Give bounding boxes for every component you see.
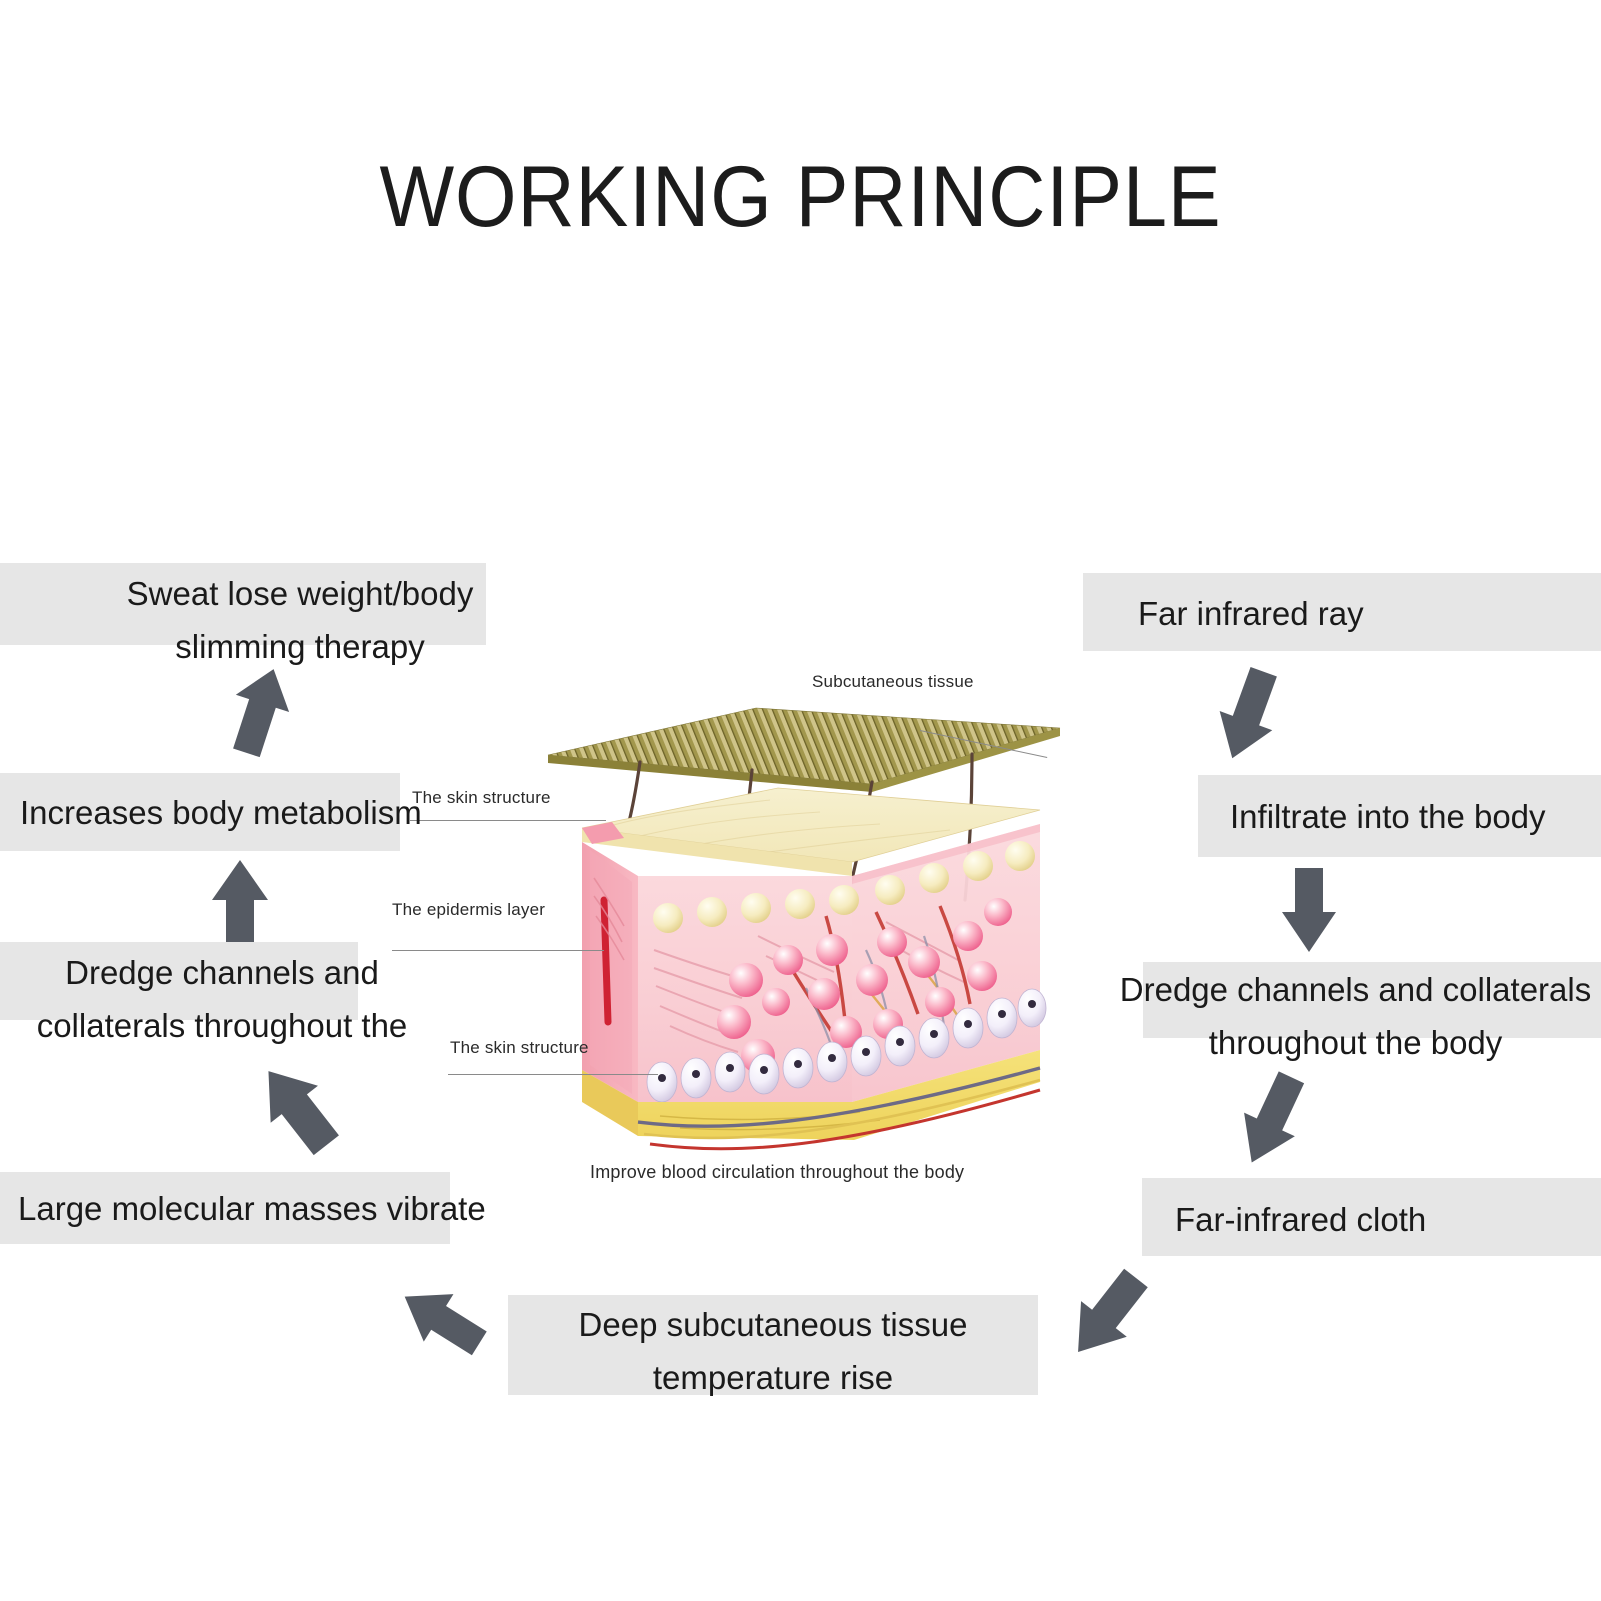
- skin-diagram-svg: [520, 650, 1080, 1210]
- label-increases-metabolism: Increases body metabolism: [20, 786, 422, 839]
- leader-line-epidermis: [392, 950, 604, 951]
- arrow-to-deep-subcutaneous: [388, 1270, 496, 1375]
- label-dredge-channels-left: Dredge channels and collaterals througho…: [22, 946, 422, 1052]
- label-infiltrate-body: Infiltrate into the body: [1230, 790, 1546, 843]
- annotation-subcutaneous-tissue: Subcutaneous tissue: [812, 672, 974, 692]
- label-far-infrared-cloth: Far-infrared cloth: [1175, 1193, 1426, 1246]
- label-large-molecular-vibrate: Large molecular masses vibrate: [18, 1182, 486, 1235]
- annotation-skin-structure-bottom: The skin structure: [450, 1038, 589, 1058]
- label-sweat-lose-weight: Sweat lose weight/body slimming therapy: [100, 567, 500, 673]
- leader-line-skin-structure-top: [410, 820, 606, 821]
- left-face-vessel: [604, 900, 608, 1022]
- annotation-skin-structure-top: The skin structure: [412, 788, 551, 808]
- arrow-to-metabolism: [204, 856, 276, 953]
- far-infrared-cloth-graphic: [548, 708, 1060, 792]
- label-dredge-channels-right: Dredge channels and collaterals througho…: [1110, 963, 1601, 1069]
- leader-line-skin-structure-bottom: [448, 1074, 658, 1075]
- page-title: WORKING PRINCIPLE: [64, 148, 1537, 247]
- arrow-to-dredge-left: [248, 1055, 348, 1168]
- arrow-to-deep-subcutaneous-right: [1048, 1262, 1166, 1373]
- label-deep-subcutaneous: Deep subcutaneous tissue temperature ris…: [518, 1298, 1028, 1404]
- label-far-infrared-ray: Far infrared ray: [1138, 587, 1364, 640]
- arrow-to-dredge-right: [1272, 864, 1346, 961]
- arrow-to-sweat: [222, 663, 298, 764]
- annotation-epidermis-layer: The epidermis layer: [392, 900, 545, 920]
- arrow-to-far-infrared-cloth: [1216, 1063, 1328, 1180]
- skin-cross-section-diagram: Subcutaneous tissue The skin structure T…: [520, 650, 1080, 1210]
- annotation-improve-blood-circulation: Improve blood circulation throughout the…: [590, 1162, 964, 1183]
- arrow-to-infiltrate: [1200, 663, 1296, 772]
